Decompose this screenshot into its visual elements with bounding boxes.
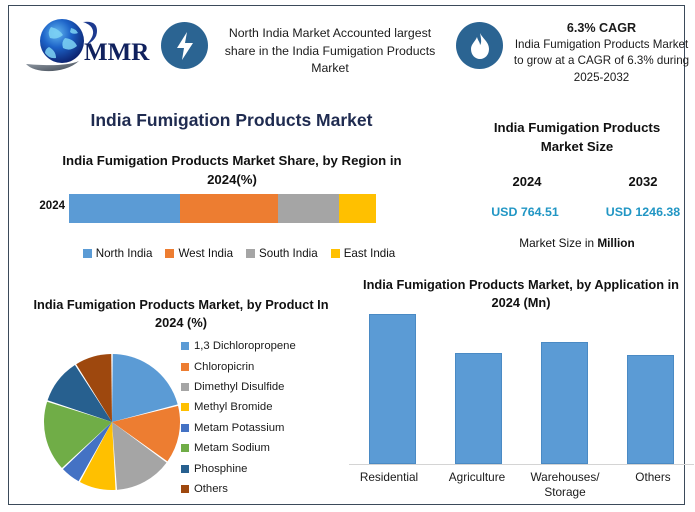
pie-legend-label: 1,3 Dichloropropene (194, 340, 296, 352)
legend-swatch-icon (83, 249, 92, 258)
application-bar-1 (455, 353, 502, 464)
product-pie-chart (42, 352, 182, 492)
legend-swatch-icon (181, 465, 189, 473)
pie-legend-item: Dimethyl Disulfide (181, 377, 341, 397)
legend-swatch-icon (181, 342, 189, 350)
application-category-label: Agriculture (433, 470, 521, 500)
pie-legend-item: Chloropicrin (181, 356, 341, 376)
cagr-description: India Fumigation Products Market to grow… (514, 38, 689, 83)
pie-legend-item: Others (181, 479, 341, 499)
market-size-unit-note: Market Size in Million (472, 236, 682, 250)
pie-legend-item: Methyl Bromide (181, 397, 341, 417)
pie-legend-label: Phosphine (194, 463, 247, 475)
region-stacked-bar (69, 194, 376, 223)
pie-legend-label: Dimethyl Disulfide (194, 381, 284, 393)
application-bar-2 (541, 342, 588, 464)
page-title: India Fumigation Products Market (29, 110, 434, 131)
mmr-logo: MMR (21, 14, 156, 76)
legend-swatch-icon (181, 424, 189, 432)
lightning-bolt-icon (161, 22, 208, 69)
region-segment-0 (69, 194, 180, 223)
market-size-title: India Fumigation Products Market Size (472, 118, 682, 156)
market-size-forecast-value: USD 1246.38 (591, 205, 695, 219)
region-legend: North IndiaWest IndiaSouth IndiaEast Ind… (64, 247, 414, 260)
pie-legend-label: Chloropicrin (194, 361, 254, 373)
pie-legend-item: Phosphine (181, 458, 341, 478)
legend-swatch-icon (331, 249, 340, 258)
region-segment-2 (278, 194, 339, 223)
market-size-unit-prefix: Market Size in (519, 236, 597, 250)
pie-legend-label: Metam Sodium (194, 442, 270, 454)
region-legend-item: West India (165, 247, 233, 260)
flame-icon (456, 22, 503, 69)
cagr-value: 6.3% CAGR (509, 20, 694, 36)
region-legend-item: South India (246, 247, 318, 260)
pie-legend-label: Others (194, 483, 228, 495)
legend-swatch-icon (181, 444, 189, 452)
region-segment-1 (180, 194, 278, 223)
region-legend-label: West India (178, 247, 233, 260)
application-category-labels: ResidentialAgricultureWarehouses/ Storag… (345, 470, 695, 500)
application-axis-line (349, 464, 694, 465)
pie-legend-label: Methyl Bromide (194, 401, 272, 413)
legend-swatch-icon (246, 249, 255, 258)
region-legend-item: East India (331, 247, 396, 260)
product-pie-legend: 1,3 DichloropropeneChloropicrinDimethyl … (181, 336, 341, 499)
legend-swatch-icon (181, 485, 189, 493)
market-size-unit: Million (597, 236, 634, 250)
region-legend-label: North India (96, 247, 153, 260)
application-bar-plot (349, 306, 694, 464)
region-segment-3 (339, 194, 376, 223)
application-category-label: Residential (345, 470, 433, 500)
infographic-frame: MMR North India Market Accounted largest… (8, 5, 685, 505)
pie-legend-item: Metam Potassium (181, 418, 341, 438)
application-category-label: Others (609, 470, 695, 500)
market-size-forecast-year: 2032 (595, 174, 691, 189)
market-size-base-year: 2024 (479, 174, 575, 189)
product-pie-title: India Fumigation Products Market, by Pro… (21, 296, 341, 332)
legend-swatch-icon (181, 383, 189, 391)
header-cagr-callout: 6.3% CAGR India Fumigation Products Mark… (509, 20, 694, 86)
svg-text:MMR: MMR (84, 39, 150, 66)
application-category-label: Warehouses/ Storage (521, 470, 609, 500)
region-legend-label: South India (259, 247, 318, 260)
application-bar-0 (369, 314, 416, 464)
application-bar-3 (627, 355, 674, 464)
market-size-base-value: USD 764.51 (473, 205, 577, 219)
pie-legend-label: Metam Potassium (194, 422, 284, 434)
region-legend-item: North India (83, 247, 153, 260)
region-category-label: 2024 (29, 200, 65, 212)
region-legend-label: East India (344, 247, 396, 260)
pie-legend-item: 1,3 Dichloropropene (181, 336, 341, 356)
region-chart-title: India Fumigation Products Market Share, … (37, 151, 427, 189)
pie-legend-item: Metam Sodium (181, 438, 341, 458)
legend-swatch-icon (181, 403, 189, 411)
legend-swatch-icon (181, 363, 189, 371)
legend-swatch-icon (165, 249, 174, 258)
header-callout-left: North India Market Accounted largest sha… (214, 25, 446, 78)
